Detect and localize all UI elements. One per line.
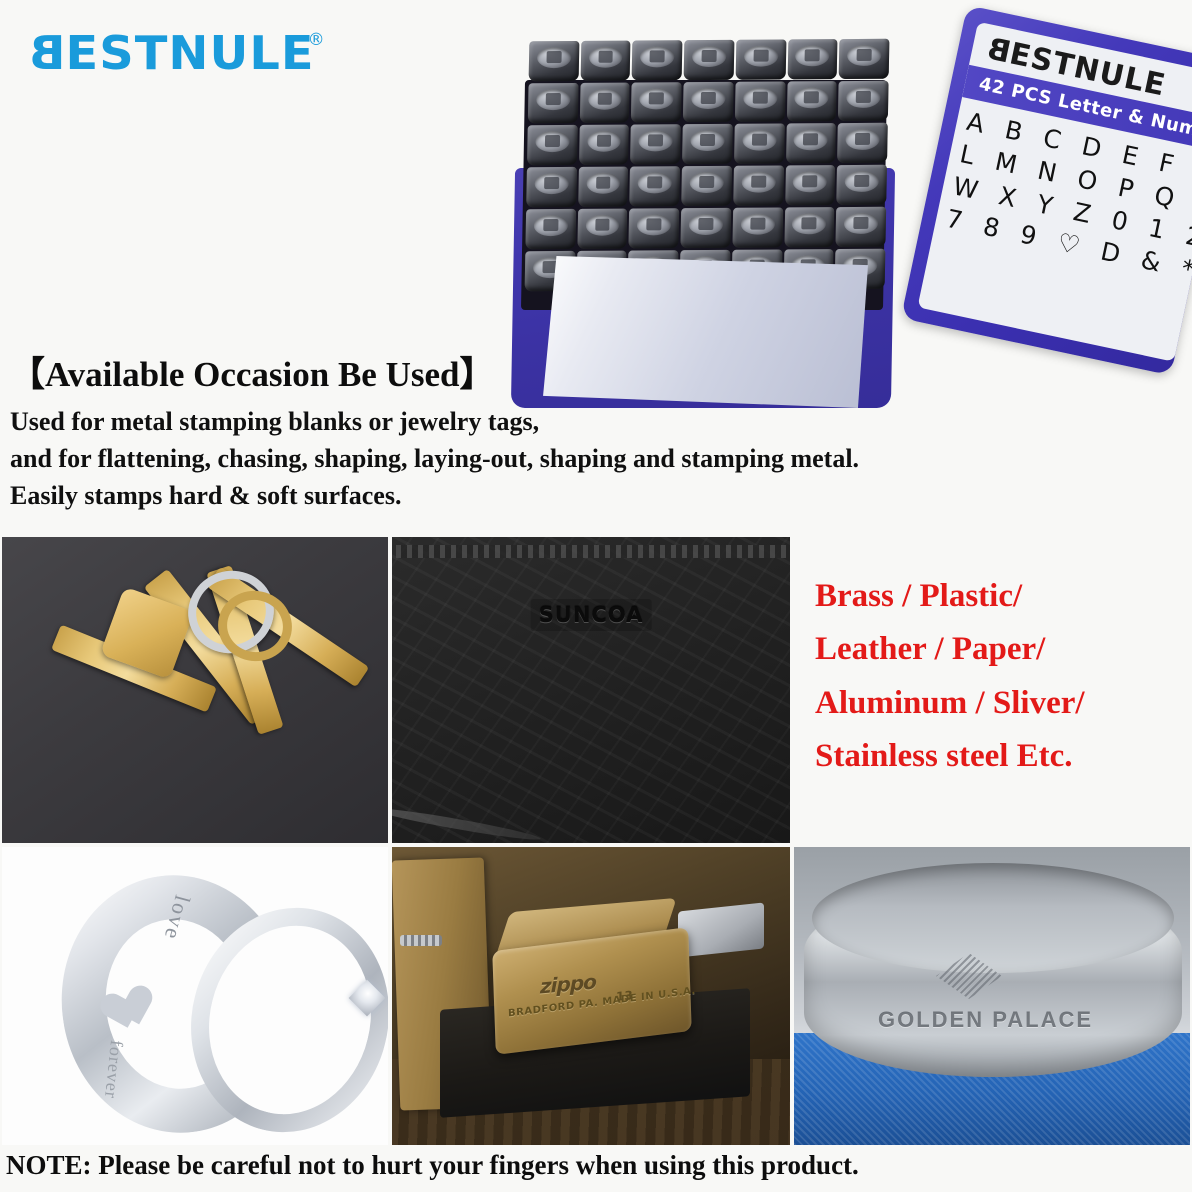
material-line: Aluminum / Sliver/ (815, 677, 1185, 730)
photo-zippo-lighter: zippo BRADFORD PA. MADE IN U.S.A. 13 (392, 847, 790, 1145)
body-line: Easily stamps hard & soft surfaces. (10, 478, 970, 515)
steel-ring-rim (812, 863, 1174, 973)
stamp-punch (630, 124, 680, 164)
stamp-punch (684, 40, 734, 80)
stamp-punch (786, 81, 836, 121)
stamp-punch (786, 123, 836, 163)
photo-stainless-steel: GOLDEN PALACE (794, 847, 1190, 1145)
leather-texture (392, 537, 790, 843)
product-box-photo: BESTNULE 42 PCS Letter & Numb A B C D E … (886, 5, 1192, 444)
stamp-set-photo (505, 18, 905, 418)
brand-logo-text: BESTNULE (28, 30, 315, 76)
section-heading: 【Available Occasion Be Used】 (10, 346, 494, 397)
stamp-punch (580, 83, 630, 123)
photo-brass-keys (2, 537, 388, 843)
stamp-punch (579, 125, 629, 165)
stamp-punch (734, 123, 784, 163)
stamp-punch (527, 125, 577, 165)
zippo-hinge (400, 935, 442, 946)
stamp-punch (784, 207, 834, 247)
stamp-punch (681, 208, 731, 248)
material-line: Leather / Paper/ (815, 623, 1185, 676)
infographic-page: BESTNULE ® BESTNULE 42 PCS Letter & Numb… (0, 0, 1192, 1192)
stamp-punch (630, 166, 680, 206)
stamp-punch (683, 82, 733, 122)
material-line: Brass / Plastic/ (815, 570, 1185, 623)
leather-stitching (396, 545, 786, 558)
stamp-punch (733, 165, 783, 205)
stamp-punch (682, 124, 732, 164)
photo-silver-rings: love forever (2, 847, 388, 1145)
stamp-case-front-face (533, 256, 868, 408)
stamp-punch (837, 123, 887, 163)
stamp-punch (580, 41, 630, 81)
stamp-punch (735, 39, 785, 79)
stamp-punch (735, 81, 785, 121)
zippo-brand-stamp: zippo (540, 970, 596, 999)
stamp-punch (631, 82, 681, 122)
stamp-punch (836, 207, 886, 247)
body-line: and for flattening, chasing, shaping, la… (10, 441, 970, 478)
materials-list: Brass / Plastic/ Leather / Paper/ Alumin… (815, 570, 1185, 784)
brand-logo: BESTNULE ® (28, 30, 325, 76)
stamp-punch (529, 41, 579, 81)
material-line: Stainless steel Etc. (815, 730, 1185, 783)
stamp-punch (839, 39, 889, 79)
stamp-punch (787, 39, 837, 79)
stamp-punch (526, 167, 576, 207)
stamp-punch (629, 208, 679, 248)
stamp-punch (785, 165, 835, 205)
stamp-punch (732, 207, 782, 247)
body-line: Used for metal stamping blanks or jewelr… (10, 404, 970, 441)
leather-embossed-text: SUNCOA (531, 599, 652, 631)
stamp-punch (577, 209, 627, 249)
photo-leather-wallet: SUNCOA (392, 537, 790, 843)
stamp-punch (528, 83, 578, 123)
stamp-punch (838, 81, 888, 121)
stamp-punch (632, 40, 682, 80)
stamp-punch (525, 209, 575, 249)
stamp-punch (578, 167, 628, 207)
stamp-punch-grid (525, 39, 890, 292)
steel-engraving-text: GOLDEN PALACE (878, 1007, 1093, 1033)
zippo-insert (678, 902, 764, 957)
zippo-year-stamp: 13 (616, 988, 633, 1003)
section-body: Used for metal stamping blanks or jewelr… (10, 404, 970, 515)
stamp-punch (681, 166, 731, 206)
stamp-punch (837, 165, 887, 205)
safety-note: NOTE: Please be careful not to hurt your… (6, 1150, 859, 1181)
